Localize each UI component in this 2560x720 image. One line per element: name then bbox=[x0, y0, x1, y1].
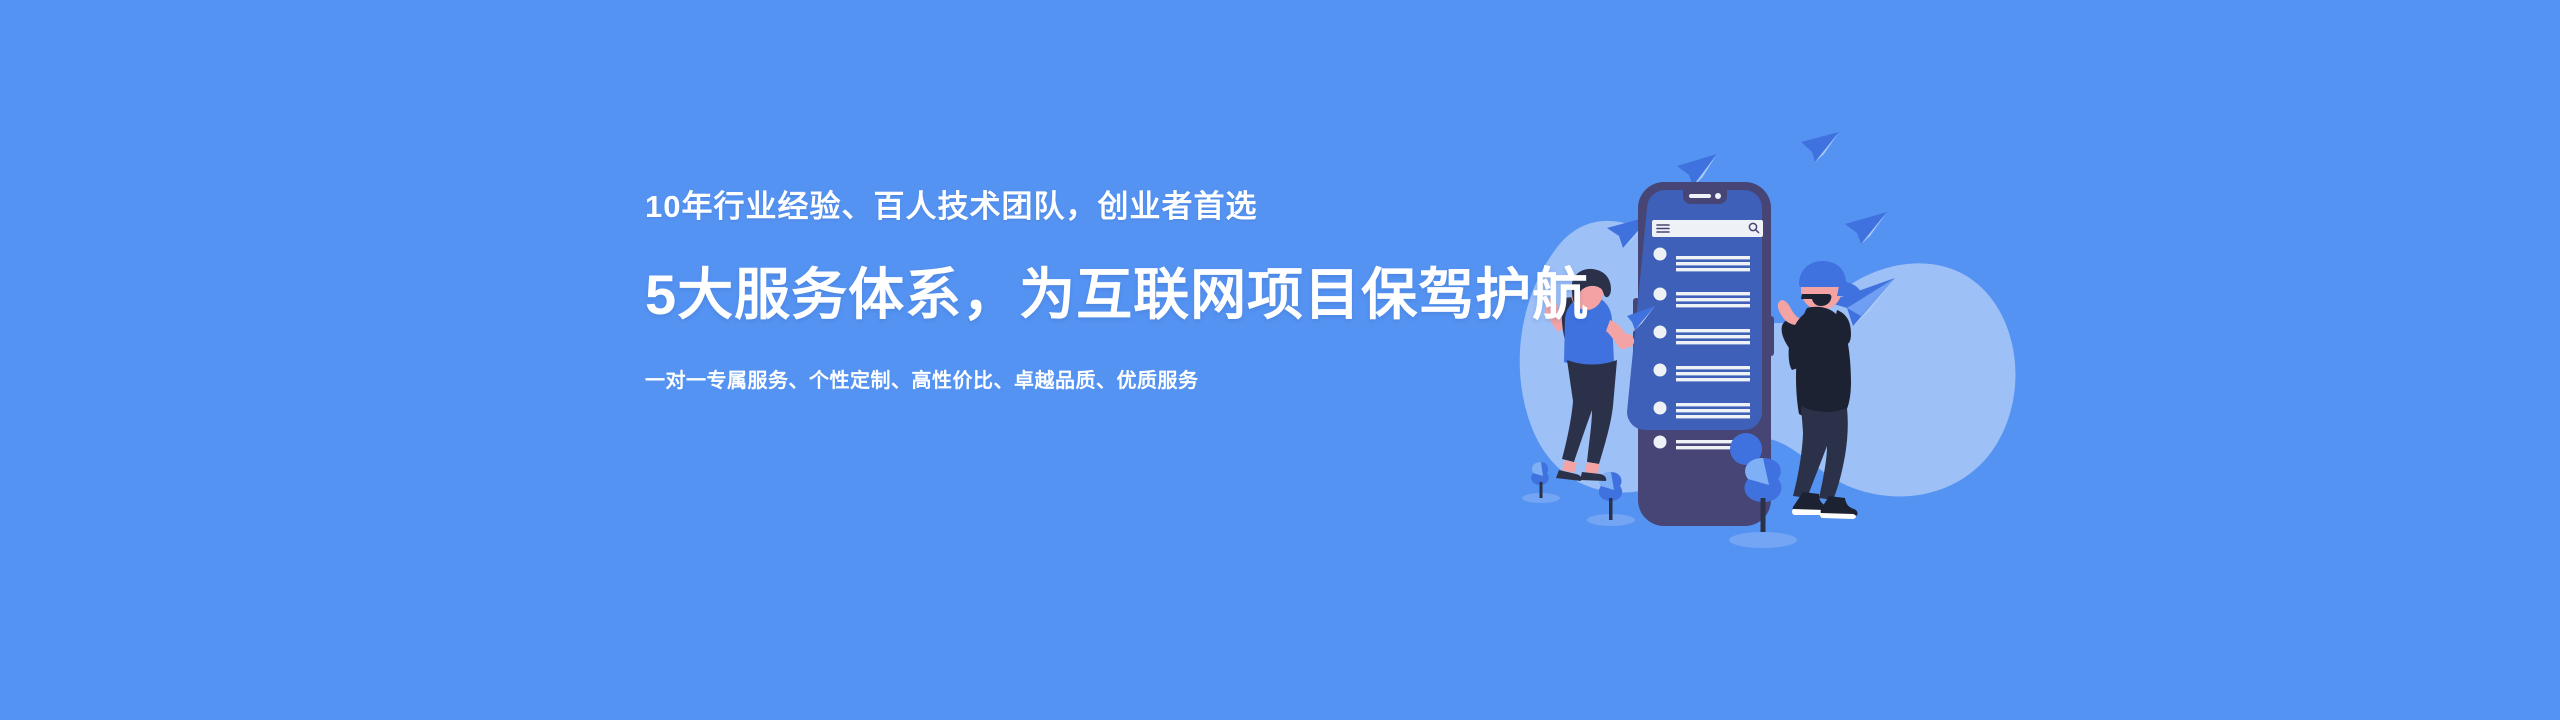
list-bullet bbox=[1654, 402, 1667, 415]
decorative-tree-1 bbox=[1531, 462, 1549, 498]
banner-eyebrow: 10年行业经验、百人技术团队，创业者首选 bbox=[645, 188, 1545, 225]
banner-text-block: 10年行业经验、百人技术团队，创业者首选 5大服务体系，为互联网项目保驾护航 一… bbox=[645, 188, 1545, 394]
ground-shadow-tree-3 bbox=[1729, 532, 1797, 548]
phone-speaker-grill bbox=[1689, 194, 1711, 198]
list-bullet bbox=[1654, 364, 1667, 377]
man-cap bbox=[1799, 261, 1846, 287]
paper-plane-icon-4 bbox=[1845, 212, 1887, 244]
list-bullet bbox=[1654, 436, 1667, 449]
list-bullet bbox=[1654, 248, 1667, 261]
phone-front-camera bbox=[1715, 193, 1721, 199]
paper-plane-icon-3 bbox=[1801, 132, 1839, 162]
list-bullet bbox=[1654, 288, 1667, 301]
promo-banner: 10年行业经验、百人技术团队，创业者首选 5大服务体系，为互联网项目保驾护航 一… bbox=[0, 0, 2560, 720]
banner-headline: 5大服务体系，为互联网项目保驾护航 bbox=[645, 263, 1545, 327]
hero-illustration bbox=[1455, 120, 2095, 600]
paper-plane-icon-2 bbox=[1677, 154, 1717, 186]
banner-subline: 一对一专属服务、个性定制、高性价比、卓越品质、优质服务 bbox=[645, 368, 1545, 394]
list-bullet bbox=[1654, 326, 1667, 339]
man-shoe-back bbox=[1820, 496, 1858, 519]
